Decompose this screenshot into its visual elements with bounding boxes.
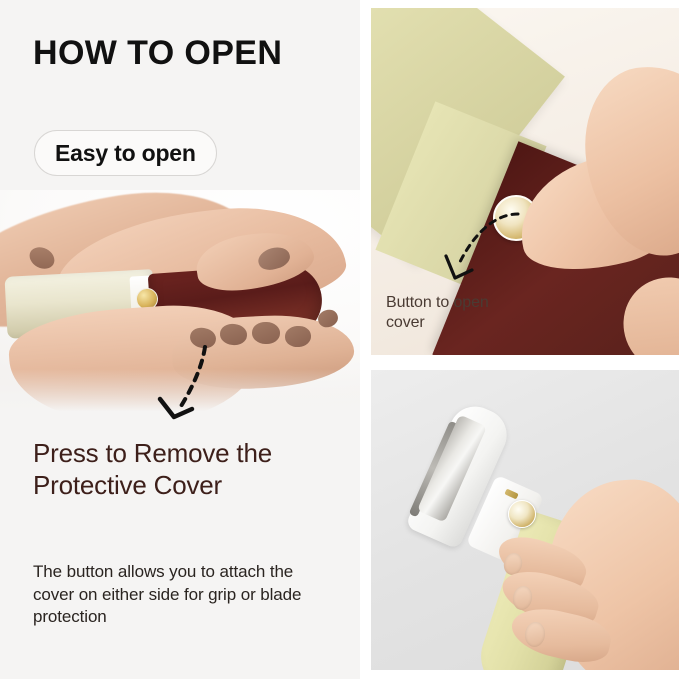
button-to-open-cover-caption: Button to open cover <box>386 293 526 333</box>
release-button-gold-icon <box>508 500 536 528</box>
how-to-open-infographic: HOW TO OPEN Easy to open <box>0 0 679 679</box>
left-panel: HOW TO OPEN Easy to open <box>0 0 360 679</box>
fingernail <box>252 322 281 345</box>
badge-label: Easy to open <box>55 140 196 167</box>
body-description: The button allows you to attach the cove… <box>33 561 333 629</box>
right-bottom-panel <box>371 370 679 670</box>
subheadline: Press to Remove the Protective Cover <box>33 437 333 501</box>
photo-hands-holding-covered-peeler <box>0 190 360 415</box>
easy-to-open-badge: Easy to open <box>34 130 217 176</box>
release-button-gold-icon <box>493 195 539 241</box>
page-title: HOW TO OPEN <box>33 36 282 70</box>
photo-bottom-fade <box>0 369 360 415</box>
